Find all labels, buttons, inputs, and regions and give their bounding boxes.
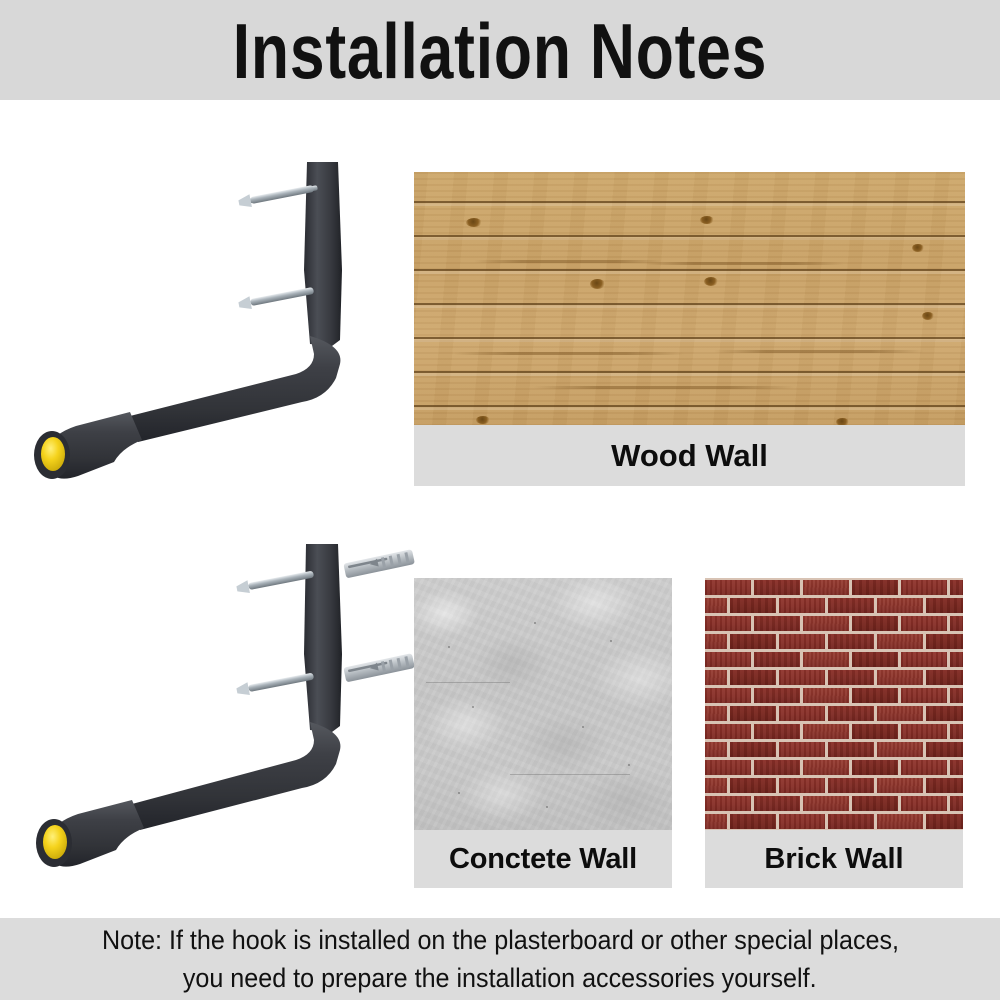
brick bbox=[705, 652, 751, 667]
installation-notes-page: Installation Notes bbox=[0, 0, 1000, 1000]
brick bbox=[779, 670, 825, 685]
brick bbox=[877, 814, 923, 829]
brick bbox=[926, 634, 964, 649]
brick bbox=[901, 796, 947, 811]
brick-course bbox=[705, 742, 963, 757]
brick bbox=[705, 724, 751, 739]
wood-grain-streak bbox=[644, 262, 844, 265]
brick-course bbox=[705, 634, 963, 649]
wall-card-wood: Wood Wall bbox=[414, 172, 965, 486]
brick bbox=[926, 814, 964, 829]
brick bbox=[950, 616, 963, 631]
brick bbox=[730, 634, 776, 649]
wood-knot bbox=[590, 279, 605, 289]
wood-knot bbox=[466, 218, 482, 227]
brick bbox=[754, 580, 800, 595]
note-line-2: you need to prepare the installation acc… bbox=[183, 960, 817, 996]
brick bbox=[852, 580, 898, 595]
brick-course bbox=[705, 706, 963, 721]
brick bbox=[779, 814, 825, 829]
brick bbox=[828, 598, 874, 613]
brick bbox=[828, 814, 874, 829]
brick bbox=[950, 688, 963, 703]
brick bbox=[950, 760, 963, 775]
brick bbox=[705, 616, 751, 631]
brick bbox=[828, 706, 874, 721]
hook-yellow-end-cap bbox=[41, 437, 65, 471]
brick-course bbox=[705, 796, 963, 811]
brick-course bbox=[705, 616, 963, 631]
brick bbox=[803, 580, 849, 595]
wall-label-brick: Brick Wall bbox=[705, 830, 963, 888]
concrete-fill bbox=[414, 578, 672, 830]
brick bbox=[754, 760, 800, 775]
brick bbox=[803, 616, 849, 631]
brick bbox=[705, 580, 751, 595]
hook-with-screws-figure bbox=[18, 150, 398, 510]
brick bbox=[877, 634, 923, 649]
wall-label-concrete: Conctete Wall bbox=[414, 830, 672, 888]
brick-course bbox=[705, 724, 963, 739]
brick bbox=[950, 652, 963, 667]
note-line-1: Note: If the hook is installed on the pl… bbox=[101, 922, 898, 958]
brick bbox=[901, 652, 947, 667]
brick bbox=[705, 706, 727, 721]
brick bbox=[950, 580, 963, 595]
brick bbox=[705, 598, 727, 613]
brick bbox=[926, 742, 964, 757]
brick-course bbox=[705, 598, 963, 613]
page-title: Installation Notes bbox=[100, 6, 900, 96]
brick-fill bbox=[705, 578, 963, 830]
wood-wall-texture bbox=[414, 172, 965, 425]
brick-wall-texture bbox=[705, 578, 963, 830]
brick bbox=[877, 670, 923, 685]
brick bbox=[705, 688, 751, 703]
brick bbox=[754, 616, 800, 631]
brick-course bbox=[705, 670, 963, 685]
wall-anchor-upper bbox=[343, 549, 415, 578]
brick bbox=[730, 778, 776, 793]
concrete-crack bbox=[510, 774, 630, 775]
brick-course bbox=[705, 580, 963, 595]
brick bbox=[877, 742, 923, 757]
brick bbox=[779, 742, 825, 757]
brick bbox=[901, 688, 947, 703]
brick-course bbox=[705, 688, 963, 703]
installation-note: Note: If the hook is installed on the pl… bbox=[0, 918, 1000, 1000]
concrete-speck bbox=[628, 764, 630, 766]
wood-grain-streak bbox=[714, 350, 924, 353]
brick bbox=[730, 814, 776, 829]
screw-lower bbox=[238, 284, 315, 311]
brick bbox=[754, 652, 800, 667]
brick bbox=[828, 670, 874, 685]
brick bbox=[803, 760, 849, 775]
brick bbox=[803, 796, 849, 811]
hook-yellow-end-cap bbox=[43, 825, 67, 859]
screw-upper bbox=[236, 568, 315, 596]
brick bbox=[754, 688, 800, 703]
brick bbox=[901, 580, 947, 595]
brick bbox=[877, 598, 923, 613]
brick bbox=[901, 724, 947, 739]
brick bbox=[852, 616, 898, 631]
brick bbox=[779, 706, 825, 721]
wood-grain-streak bbox=[534, 386, 794, 389]
hook-with-anchors-figure bbox=[18, 530, 418, 900]
wood-knot bbox=[704, 277, 718, 286]
brick bbox=[705, 778, 727, 793]
brick bbox=[705, 634, 727, 649]
brick bbox=[852, 652, 898, 667]
hook-horizontal-arm bbox=[132, 722, 340, 830]
brick bbox=[705, 742, 727, 757]
brick bbox=[877, 778, 923, 793]
concrete-speck bbox=[448, 646, 450, 648]
brick bbox=[705, 670, 727, 685]
brick bbox=[803, 688, 849, 703]
brick bbox=[901, 760, 947, 775]
brick bbox=[852, 724, 898, 739]
wood-knot bbox=[922, 312, 934, 320]
concrete-speck bbox=[458, 792, 460, 794]
wall-card-brick: Brick Wall bbox=[705, 578, 963, 888]
brick bbox=[779, 598, 825, 613]
brick bbox=[950, 724, 963, 739]
wall-label-wood: Wood Wall bbox=[414, 425, 965, 486]
brick bbox=[926, 706, 964, 721]
wall-card-concrete: Conctete Wall bbox=[414, 578, 672, 888]
brick bbox=[950, 796, 963, 811]
wood-knot bbox=[836, 418, 849, 425]
wood-knot bbox=[912, 244, 924, 252]
brick bbox=[926, 670, 964, 685]
concrete-speck bbox=[546, 806, 548, 808]
brick bbox=[730, 670, 776, 685]
brick bbox=[705, 796, 751, 811]
hook-horizontal-arm bbox=[130, 336, 340, 442]
brick bbox=[852, 796, 898, 811]
brick bbox=[901, 616, 947, 631]
brick bbox=[705, 814, 727, 829]
brick bbox=[803, 724, 849, 739]
concrete-speck bbox=[582, 726, 584, 728]
brick bbox=[828, 778, 874, 793]
concrete-wall-texture bbox=[414, 578, 672, 830]
brick bbox=[779, 778, 825, 793]
brick bbox=[730, 742, 776, 757]
wood-grain-streak bbox=[474, 260, 664, 263]
wood-knot bbox=[700, 216, 714, 224]
brick bbox=[877, 706, 923, 721]
brick-course bbox=[705, 814, 963, 829]
concrete-speck bbox=[610, 640, 612, 642]
brick bbox=[852, 688, 898, 703]
brick bbox=[754, 796, 800, 811]
concrete-crack bbox=[426, 682, 510, 683]
brick bbox=[852, 760, 898, 775]
brick bbox=[754, 724, 800, 739]
brick bbox=[803, 652, 849, 667]
brick bbox=[828, 634, 874, 649]
brick-course bbox=[705, 652, 963, 667]
wall-anchor-lower bbox=[343, 653, 415, 682]
brick bbox=[926, 598, 964, 613]
screw-lower bbox=[236, 670, 315, 698]
brick-course bbox=[705, 760, 963, 775]
hook-with-anchors-illustration bbox=[18, 530, 418, 900]
wood-knot bbox=[476, 416, 490, 424]
brick bbox=[926, 778, 964, 793]
brick bbox=[705, 760, 751, 775]
wood-grain-streak bbox=[454, 352, 684, 355]
brick bbox=[828, 742, 874, 757]
concrete-speck bbox=[534, 622, 536, 624]
concrete-speck bbox=[472, 706, 474, 708]
hook-with-screws-illustration bbox=[18, 150, 398, 510]
brick bbox=[730, 706, 776, 721]
brick-course bbox=[705, 778, 963, 793]
brick bbox=[730, 598, 776, 613]
brick bbox=[779, 634, 825, 649]
